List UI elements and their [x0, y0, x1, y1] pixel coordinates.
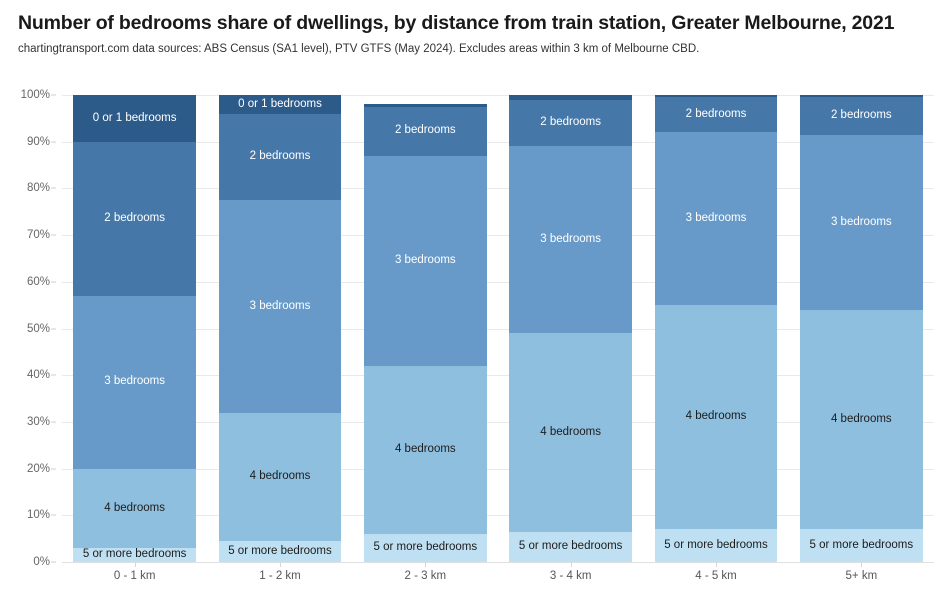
bar-segment-label: 4 bedrooms [540, 427, 601, 439]
x-axis-tick [716, 562, 717, 567]
bar-segment-label: 2 bedrooms [540, 117, 601, 129]
bar-series-container: 5 or more bedrooms4 bedrooms3 bedrooms2 … [62, 95, 934, 562]
bar-segment-label: 2 bedrooms [831, 110, 892, 122]
stacked-bar[interactable]: 5 or more bedrooms4 bedrooms3 bedrooms2 … [364, 95, 487, 562]
bar-segment-label: 2 bedrooms [104, 213, 165, 225]
stacked-bar[interactable]: 5 or more bedrooms4 bedrooms3 bedrooms2 … [509, 95, 632, 562]
bar-segment[interactable]: 5 or more bedrooms [73, 548, 196, 562]
bar-segment-label: 3 bedrooms [250, 301, 311, 313]
bar-group[interactable]: 5 or more bedrooms4 bedrooms3 bedrooms2 … [219, 95, 342, 562]
bar-segment[interactable]: 4 bedrooms [219, 413, 342, 541]
bar-segment-label: 2 bedrooms [395, 125, 456, 137]
x-axis-tick-label: 3 - 4 km [550, 570, 592, 582]
y-axis-tick-label: 40% [27, 369, 50, 381]
bar-segment[interactable]: 4 bedrooms [364, 366, 487, 534]
bar-segment[interactable]: 3 bedrooms [800, 135, 923, 310]
stacked-bar[interactable]: 5 or more bedrooms4 bedrooms3 bedrooms2 … [219, 95, 342, 562]
bar-segment[interactable]: 3 bedrooms [219, 200, 342, 412]
x-axis-tick [280, 562, 281, 567]
chart-page: Number of bedrooms share of dwellings, b… [0, 0, 950, 600]
bar-segment-label: 3 bedrooms [104, 376, 165, 388]
bar-segment[interactable]: 4 bedrooms [655, 305, 778, 529]
y-axis-tick [51, 515, 56, 516]
bar-segment-label: 4 bedrooms [686, 411, 747, 423]
y-axis-tick-label: 0% [33, 556, 50, 568]
bar-segment-label: 0 or 1 bedrooms [93, 113, 177, 125]
bar-segment-label: 4 bedrooms [831, 414, 892, 426]
stacked-bar[interactable]: 5 or more bedrooms4 bedrooms3 bedrooms2 … [655, 95, 778, 562]
bar-segment-label: 5 or more bedrooms [810, 540, 914, 552]
stacked-bar[interactable]: 5 or more bedrooms4 bedrooms3 bedrooms2 … [800, 95, 923, 562]
y-axis-tick [51, 375, 56, 376]
bar-segment[interactable]: 5 or more bedrooms [219, 541, 342, 562]
bar-segment-label: 3 bedrooms [540, 234, 601, 246]
y-axis-tick [51, 141, 56, 142]
x-axis-tick [135, 562, 136, 567]
bar-segment[interactable]: 3 bedrooms [509, 146, 632, 333]
bar-segment[interactable]: 3 bedrooms [655, 132, 778, 305]
bar-segment[interactable]: 2 bedrooms [655, 97, 778, 132]
bar-group[interactable]: 5 or more bedrooms4 bedrooms3 bedrooms2 … [364, 95, 487, 562]
y-axis-tick-label: 20% [27, 463, 50, 475]
bar-segment[interactable]: 4 bedrooms [800, 310, 923, 529]
bar-segment[interactable] [509, 95, 632, 100]
bar-group[interactable]: 5 or more bedrooms4 bedrooms3 bedrooms2 … [655, 95, 778, 562]
bar-segment-label: 3 bedrooms [686, 213, 747, 225]
x-axis-tick [861, 562, 862, 567]
bar-segment[interactable]: 5 or more bedrooms [800, 529, 923, 562]
chart-subtitle: chartingtransport.com data sources: ABS … [18, 43, 699, 55]
bar-segment-label: 2 bedrooms [250, 151, 311, 163]
bar-group[interactable]: 5 or more bedrooms4 bedrooms3 bedrooms2 … [509, 95, 632, 562]
bar-segment[interactable]: 3 bedrooms [364, 156, 487, 366]
bar-segment-label: 4 bedrooms [250, 471, 311, 483]
page-title: Number of bedrooms share of dwellings, b… [18, 12, 894, 35]
bar-segment[interactable]: 2 bedrooms [800, 97, 923, 134]
y-axis-tick-label: 70% [27, 229, 50, 241]
y-axis-tick [51, 188, 56, 189]
y-axis-tick-label: 90% [27, 136, 50, 148]
bar-segment[interactable]: 0 or 1 bedrooms [73, 95, 196, 142]
bar-segment-label: 2 bedrooms [686, 109, 747, 121]
bar-segment[interactable]: 5 or more bedrooms [655, 529, 778, 562]
y-axis-tick [51, 468, 56, 469]
bar-segment-label: 5 or more bedrooms [374, 542, 478, 554]
bar-segment[interactable]: 2 bedrooms [509, 100, 632, 147]
y-axis-tick-label: 10% [27, 509, 50, 521]
y-axis-tick-label: 100% [21, 89, 50, 101]
x-axis-tick-label: 2 - 3 km [405, 570, 447, 582]
bar-group[interactable]: 5 or more bedrooms4 bedrooms3 bedrooms2 … [73, 95, 196, 562]
y-axis: 0%10%20%30%40%50%60%70%80%90%100% [0, 95, 56, 562]
bar-segment[interactable]: 0 or 1 bedrooms [219, 95, 342, 114]
y-axis-tick-label: 30% [27, 416, 50, 428]
x-axis-tick-label: 0 - 1 km [114, 570, 156, 582]
bar-segment[interactable] [800, 95, 923, 97]
bar-segment[interactable] [364, 104, 487, 106]
stacked-bar[interactable]: 5 or more bedrooms4 bedrooms3 bedrooms2 … [73, 95, 196, 562]
bar-segment-label: 5 or more bedrooms [83, 549, 187, 561]
bar-segment[interactable]: 2 bedrooms [73, 142, 196, 296]
bar-segment-label: 4 bedrooms [395, 444, 456, 456]
y-axis-tick [51, 328, 56, 329]
bar-segment-label: 5 or more bedrooms [664, 540, 768, 552]
y-axis-tick-label: 60% [27, 276, 50, 288]
bar-segment[interactable]: 3 bedrooms [73, 296, 196, 469]
bar-segment-label: 3 bedrooms [831, 217, 892, 229]
bar-group[interactable]: 5 or more bedrooms4 bedrooms3 bedrooms2 … [800, 95, 923, 562]
y-axis-tick-label: 50% [27, 323, 50, 335]
y-axis-tick [51, 281, 56, 282]
bar-segment[interactable]: 5 or more bedrooms [364, 534, 487, 562]
x-axis: 0 - 1 km1 - 2 km2 - 3 km3 - 4 km4 - 5 km… [62, 562, 934, 596]
y-axis-tick [51, 562, 56, 563]
x-axis-tick-label: 5+ km [846, 570, 878, 582]
x-axis-tick-label: 1 - 2 km [259, 570, 301, 582]
bar-segment-label: 0 or 1 bedrooms [238, 99, 322, 111]
bar-segment-label: 5 or more bedrooms [519, 541, 623, 553]
bar-segment[interactable]: 4 bedrooms [509, 333, 632, 531]
bar-segment[interactable] [655, 95, 778, 97]
x-axis-tick-label: 4 - 5 km [695, 570, 737, 582]
bar-segment[interactable]: 4 bedrooms [73, 469, 196, 548]
bar-segment-label: 5 or more bedrooms [228, 546, 332, 558]
bar-segment[interactable]: 2 bedrooms [364, 107, 487, 156]
bar-segment-label: 3 bedrooms [395, 255, 456, 267]
y-axis-tick [51, 235, 56, 236]
y-axis-tick-label: 80% [27, 182, 50, 194]
plot-area: 5 or more bedrooms4 bedrooms3 bedrooms2 … [62, 95, 934, 562]
x-axis-tick [425, 562, 426, 567]
x-axis-tick [571, 562, 572, 567]
bar-segment[interactable]: 2 bedrooms [219, 114, 342, 200]
bar-segment-label: 4 bedrooms [104, 503, 165, 515]
bar-segment[interactable]: 5 or more bedrooms [509, 532, 632, 562]
y-axis-tick [51, 95, 56, 96]
y-axis-tick [51, 421, 56, 422]
